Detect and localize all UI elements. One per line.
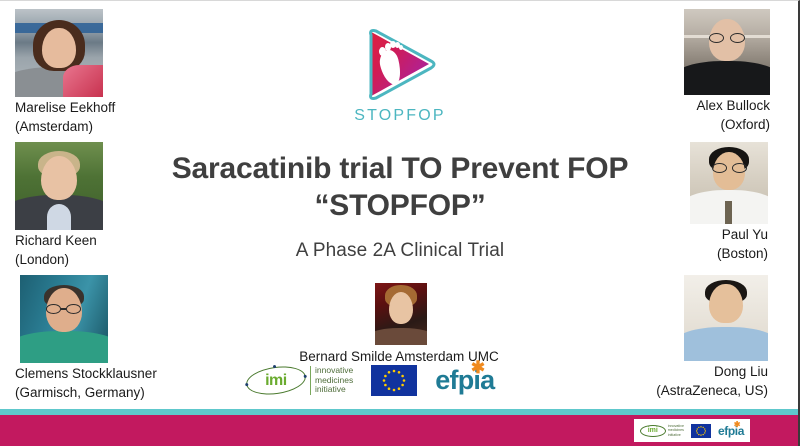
footprint-icon [378, 41, 404, 85]
person-affiliation-label: (AstraZeneca, US) [656, 380, 768, 399]
efpia-wordmark: efpia [435, 365, 494, 395]
person-name-label: Alex Bullock [696, 95, 770, 114]
person-caption-bernard-smilde: Bernard Smilde Amsterdam UMC [0, 349, 798, 364]
person-affiliation-label: (London) [15, 249, 103, 268]
imi-orbit-icon: imi [244, 363, 307, 398]
slide-subtitle: A Phase 2A Clinical Trial [120, 240, 680, 262]
title-block: Saracatinib trial TO Prevent FOP “STOPFO… [120, 151, 680, 262]
person-name-label: Marelise Eekhoff [15, 97, 115, 116]
portrait-photo-alex-bullock [684, 9, 770, 95]
presentation-slide: Marelise Eekhoff (Amsterdam) Richard Kee… [0, 0, 800, 446]
person-card-richard-keen: Richard Keen (London) [15, 142, 103, 267]
person-name-label: Paul Yu [722, 224, 768, 243]
person-name-label: Richard Keen [15, 230, 103, 249]
portrait-photo-bernard-smilde [375, 283, 427, 345]
footer-imi-tagline-line-3: initiative [668, 433, 684, 437]
footer-imi-orbit-icon: imi [640, 425, 666, 437]
efpia-logo: efpia ✱ [435, 367, 494, 394]
stopfop-wordmark: STOPFOP [340, 107, 460, 125]
person-card-marelise-eekhoff: Marelise Eekhoff (Amsterdam) [15, 9, 115, 134]
imi-logo: imi innovative medicines initiative [246, 366, 353, 395]
person-affiliation-label: (Boston) [717, 243, 768, 262]
slide-title-line-2: “STOPFOP” [120, 188, 680, 225]
person-affiliation-label: (Garmisch, Germany) [15, 382, 157, 401]
person-name-label: Clemens Stockklausner [15, 363, 157, 382]
portrait-photo-marelise-eekhoff [15, 9, 103, 97]
person-card-alex-bullock: Alex Bullock (Oxford) [684, 9, 770, 132]
footer-imi-logo: imi innovative medicines initiative [640, 424, 684, 436]
footer-imi-tagline: innovative medicines initiative [668, 424, 684, 436]
footer-efpia-wordmark: efpia [718, 424, 744, 438]
slide-title-line-1: Saracatinib trial TO Prevent FOP [120, 151, 680, 188]
imi-tagline-line-3: initiative [315, 385, 353, 395]
portrait-photo-paul-yu [690, 142, 768, 224]
european-union-flag-icon [371, 365, 417, 396]
imi-tagline: innovative medicines initiative [310, 366, 353, 395]
person-card-clemens-stockklausner: Clemens Stockklausner (Garmisch, Germany… [15, 275, 157, 400]
imi-wordmark: imi [265, 371, 287, 389]
person-card-dong-liu: Dong Liu (AstraZeneca, US) [656, 275, 768, 398]
person-card-paul-yu: Paul Yu (Boston) [690, 142, 768, 261]
person-affiliation-label: (Amsterdam) [15, 116, 115, 135]
person-card-bernard-smilde [368, 283, 434, 345]
footer-imi-wordmark: imi [648, 427, 658, 434]
footer-funder-logos: imi innovative medicines initiative [634, 419, 750, 442]
portrait-photo-richard-keen [15, 142, 103, 230]
funder-logos: imi innovative medicines initiative [246, 365, 494, 396]
footer-magenta-bar: imi innovative medicines initiative [0, 415, 798, 446]
footer-efpia-asterisk-icon: ✱ [734, 420, 740, 429]
footer-european-union-flag-icon [691, 424, 711, 438]
efpia-asterisk-icon: ✱ [471, 359, 484, 376]
stopfop-logo: STOPFOP [340, 23, 460, 125]
footer-imi-tagline-line-2: medicines [668, 428, 684, 432]
stopfop-footprint-triangle-icon [359, 23, 441, 105]
footer-efpia-logo: efpia ✱ [718, 424, 744, 438]
person-affiliation-label: (Oxford) [720, 114, 770, 133]
